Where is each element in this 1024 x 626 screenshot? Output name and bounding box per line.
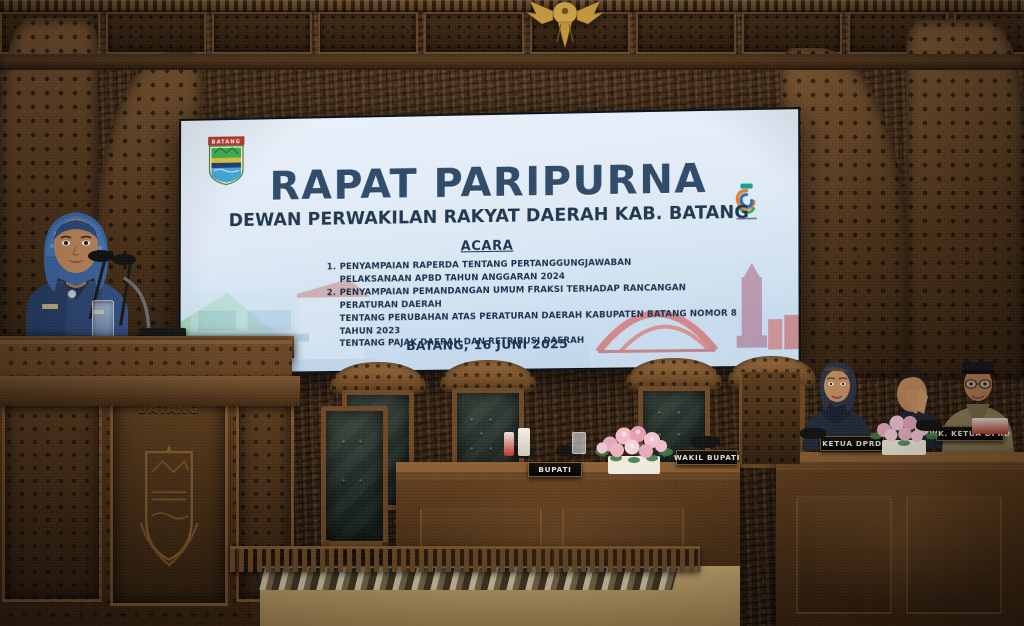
document-folder [972, 418, 1008, 434]
carved-batang-shield-icon [128, 429, 210, 579]
tissue-box [518, 428, 530, 456]
agenda-line: PELAKSANAAN APBD TAHUN ANGGARAN 2024 [340, 272, 565, 285]
podium-crest-panel: BATANG [110, 390, 228, 606]
glass [572, 432, 586, 454]
carved-panel [212, 12, 312, 54]
agenda-number: 2. [327, 288, 336, 301]
agenda-line: TENTANG PERUBAHAN ATAS PERATURAN DAERAH … [340, 308, 737, 336]
svg-text:BATANG: BATANG [212, 139, 241, 146]
wood-beam-rail [0, 54, 1024, 70]
desk-microphone [916, 420, 942, 431]
meeting-hall-photo: BATANG RAPAT PARIPURNA DEWAN PERWAKILAN … [0, 0, 1024, 626]
desk-inlay [906, 496, 1002, 614]
nameplate-label: BUPATI [538, 465, 571, 474]
microphone-head [88, 250, 114, 262]
carved-panel [318, 12, 418, 54]
flower-arrangement [862, 406, 944, 456]
garuda-emblem-icon [522, 0, 608, 50]
podium-carved-panel-left [2, 396, 102, 602]
nameplate-wakil-bupati[interactable]: WAKIL BUPATI [676, 450, 738, 465]
carved-column-far-right [906, 20, 1024, 380]
agenda-line: PENYAMPAIAN RAPERDA TENTANG PERTANGGUNGJ… [340, 258, 632, 272]
upper-carved-panel-row [0, 12, 1024, 54]
projection-screen: BATANG RAPAT PARIPURNA DEWAN PERWAKILAN … [178, 107, 800, 375]
desk-front-panel [776, 468, 1024, 626]
balustrade [230, 546, 700, 572]
nameplate-label: WAKIL BUPATI [674, 453, 740, 462]
desk-dprd-leadership [776, 452, 1024, 626]
slide-title: RAPAT PARIPURNA [181, 157, 798, 208]
wainscot-rail-left [0, 376, 300, 406]
carved-divider-column [740, 372, 800, 464]
side-chair-back [321, 406, 388, 546]
nameplate-bupati[interactable]: BUPATI [528, 462, 582, 477]
water-bottle [504, 432, 514, 456]
desk-microphone [690, 436, 720, 448]
desk-microphone [800, 428, 826, 439]
flower-arrangement [586, 418, 682, 476]
agenda-line: PENYAMPAIAN PEMANDANGAN UMUM FRAKSI TERH… [340, 284, 686, 312]
desk-inlay [796, 496, 892, 614]
carved-panel [106, 12, 206, 54]
agenda-number: 1. [327, 261, 336, 274]
slide-content: BATANG RAPAT PARIPURNA DEWAN PERWAKILAN … [180, 109, 798, 373]
cornice-top [0, 0, 1024, 12]
microphone-head [112, 254, 136, 265]
carved-panel [636, 12, 736, 54]
carved-panel [424, 12, 524, 54]
